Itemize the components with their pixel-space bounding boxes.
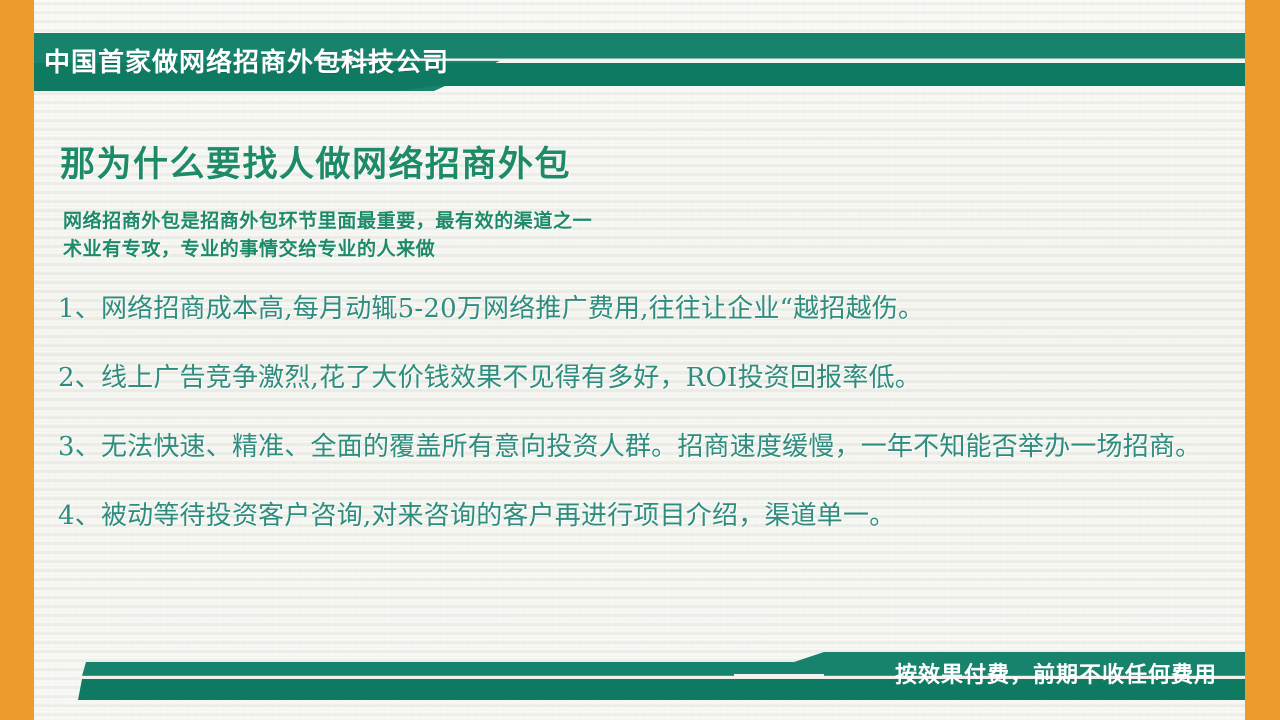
slide-canvas: 中国首家做网络招商外包科技公司 那为什么要找人做网络招商外包 网络招商外包是招商… xyxy=(0,0,1280,720)
subtitle-line-2: 术业有专攻，专业的事情交给专业的人来做 xyxy=(63,236,592,264)
footer-banner: 按效果付费，前期不收任何费用 xyxy=(34,650,1245,702)
bullet-list: 1、网络招商成本高,每月动辄5-20万网络推广费用,往往让企业“越招越伤。 2、… xyxy=(58,290,1223,536)
page-title: 那为什么要找人做网络招商外包 xyxy=(60,136,571,187)
bullet-item-3: 3、无法快速、精准、全面的覆盖所有意向投资人群。招商速度缓慢，一年不知能否举办一… xyxy=(58,428,1223,467)
header-divider-line xyxy=(314,59,1245,61)
subtitle-line-1: 网络招商外包是招商外包环节里面最重要，最有效的渠道之一 xyxy=(63,208,592,236)
header-badge-label: 中国首家做网络招商外包科技公司 xyxy=(44,39,449,85)
footer-accent-dash xyxy=(734,674,824,676)
bullet-item-1: 1、网络招商成本高,每月动辄5-20万网络推广费用,往往让企业“越招越伤。 xyxy=(58,290,1223,329)
footer-tagline: 按效果付费，前期不收任何费用 xyxy=(895,658,1217,692)
bullet-item-4: 4、被动等待投资客户咨询,对来咨询的客户再进行项目介绍，渠道单一。 xyxy=(58,497,1223,536)
subtitle-block: 网络招商外包是招商外包环节里面最重要，最有效的渠道之一 术业有专攻，专业的事情交… xyxy=(63,208,592,264)
content-area: 那为什么要找人做网络招商外包 网络招商外包是招商外包环节里面最重要，最有效的渠道… xyxy=(34,104,1245,624)
header-banner: 中国首家做网络招商外包科技公司 xyxy=(34,33,1245,91)
bullet-item-2: 2、线上广告竞争激烈,花了大价钱效果不见得有多好，ROI投资回报率低。 xyxy=(58,359,1223,398)
